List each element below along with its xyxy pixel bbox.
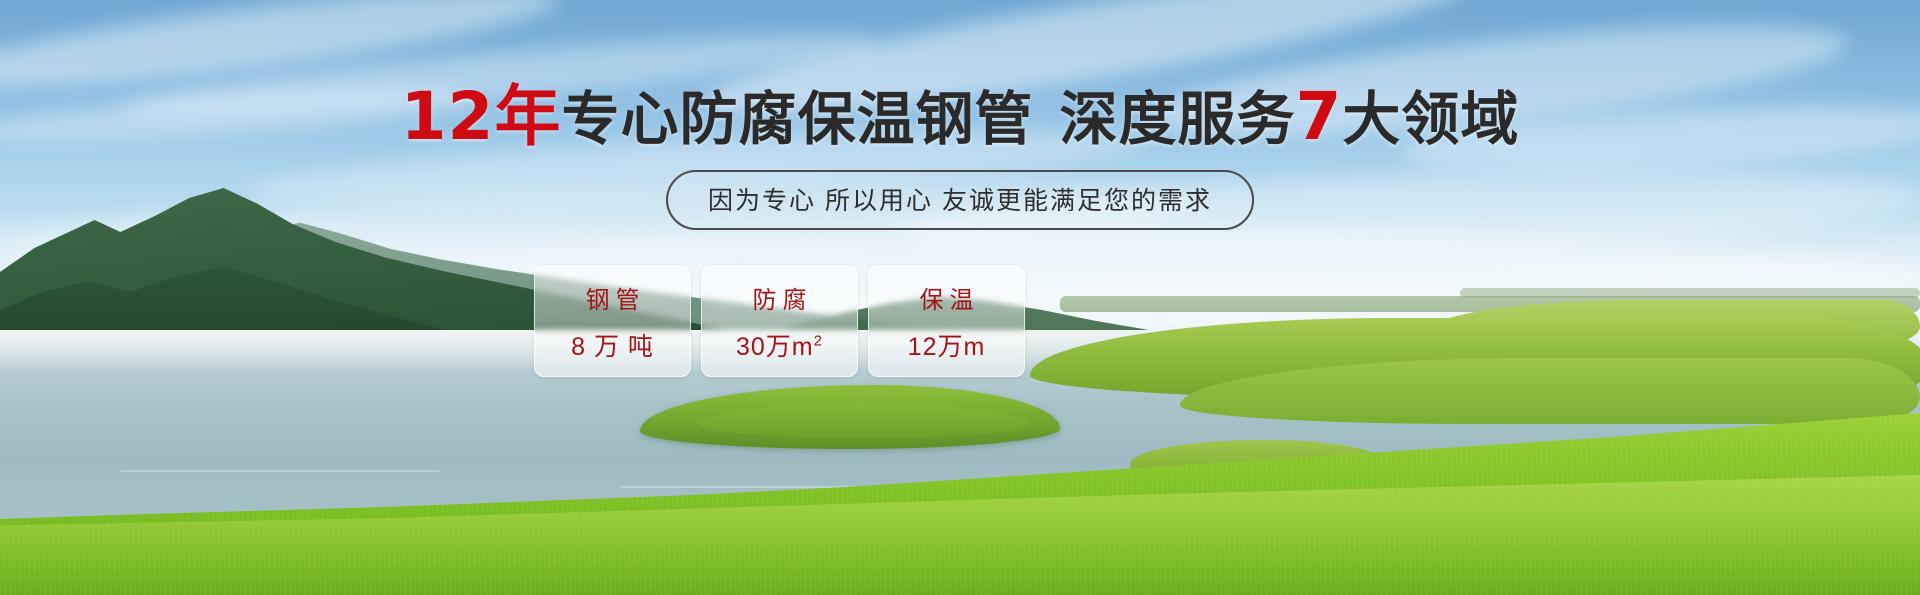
stat-card-value: 12万m <box>908 327 986 363</box>
stat-card-label: 钢管 <box>580 280 646 315</box>
stat-card-value-text: 30万m <box>736 333 814 361</box>
headline-main-text: 专心防腐保温钢管 <box>561 85 1033 153</box>
stat-card-label: 防腐 <box>747 280 813 315</box>
stat-card-label: 保温 <box>914 280 980 315</box>
banner-subtitle-text: 因为专心 所以用心 友诚更能满足您的需求 <box>708 187 1212 215</box>
headline-fields-text: 大领域 <box>1342 85 1519 153</box>
water-ripple <box>120 470 440 472</box>
stat-card-insulation[interactable]: 保温 12万m <box>868 265 1025 377</box>
headline-fields-number: 7 <box>1295 78 1342 155</box>
headline-years-unit: 年 <box>494 78 561 155</box>
banner-subtitle-pill: 因为专心 所以用心 友诚更能满足您的需求 <box>666 170 1254 230</box>
stat-card-value: 30万m2 <box>736 327 823 363</box>
stat-card-value: 8 万 吨 <box>571 327 654 363</box>
headline-service-text: 深度服务 <box>1059 85 1295 153</box>
stat-card-value-text: 12万m <box>908 333 986 361</box>
hero-banner: 12年专心防腐保温钢管深度服务7大领域 因为专心 所以用心 友诚更能满足您的需求… <box>0 0 1920 595</box>
stat-card-anticorrosion[interactable]: 防腐 30万m2 <box>701 265 858 377</box>
stat-card-group: 钢管 8 万 吨 防腐 30万m2 保温 12万m <box>534 265 1025 377</box>
banner-headline: 12年专心防腐保温钢管深度服务7大领域 <box>0 84 1920 152</box>
stat-card-steel-pipe[interactable]: 钢管 8 万 吨 <box>534 265 691 377</box>
stat-card-value-superscript: 2 <box>814 332 823 349</box>
headline-years-number: 12 <box>401 78 495 155</box>
grass-island-center <box>700 404 1030 438</box>
stat-card-value-text: 8 万 吨 <box>571 333 654 361</box>
